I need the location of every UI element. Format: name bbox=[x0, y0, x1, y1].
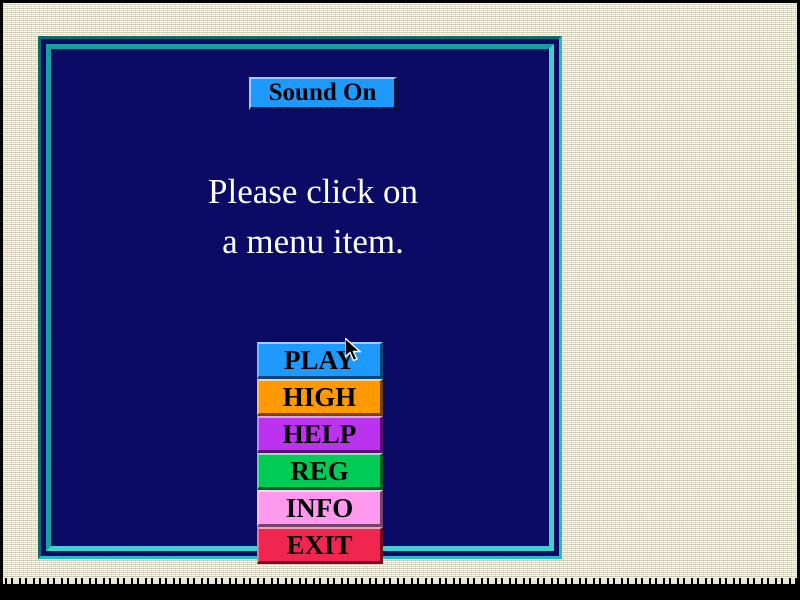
menu-item-help[interactable]: HELP bbox=[257, 416, 383, 453]
game-panel-field: Sound On Please click on a menu item. PL… bbox=[61, 59, 539, 536]
menu-item-exit[interactable]: EXIT bbox=[257, 527, 383, 564]
prompt-message: Please click on a menu item. bbox=[61, 167, 565, 267]
window-frame-top bbox=[0, 0, 800, 3]
window-frame-left bbox=[0, 0, 3, 600]
game-panel-bevel: Sound On Please click on a menu item. PL… bbox=[46, 44, 554, 551]
prompt-line-2: a menu item. bbox=[61, 217, 565, 267]
sound-toggle-button[interactable]: Sound On bbox=[249, 77, 397, 110]
prompt-line-1: Please click on bbox=[61, 167, 565, 217]
game-screen: Sound On Please click on a menu item. PL… bbox=[0, 0, 800, 600]
menu-item-reg[interactable]: REG bbox=[257, 453, 383, 490]
menu-item-info[interactable]: INFO bbox=[257, 490, 383, 527]
menu-item-play[interactable]: PLAY bbox=[257, 342, 383, 379]
main-menu: PLAY HIGH HELP REG INFO EXIT bbox=[257, 342, 383, 564]
game-panel: Sound On Please click on a menu item. PL… bbox=[38, 36, 562, 559]
menu-item-high[interactable]: HIGH bbox=[257, 379, 383, 416]
